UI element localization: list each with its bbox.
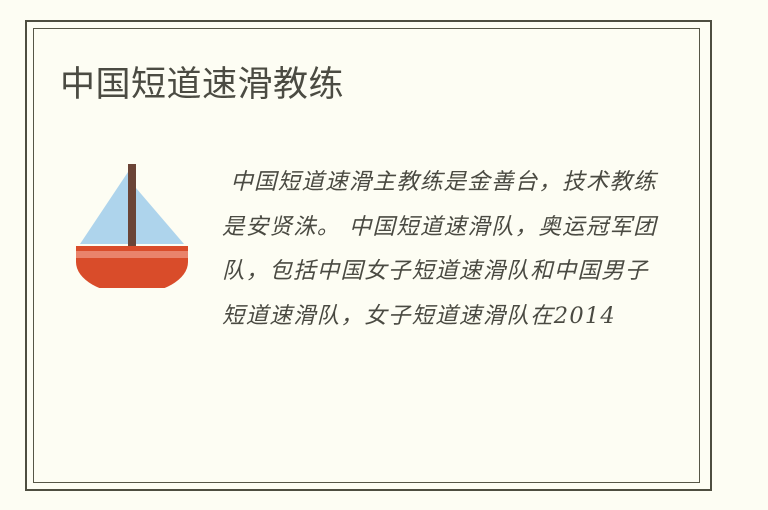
card-body-text: 中国短道速滑主教练是金善台，技术教练是安贤洙。 中国短道速滑队，奥运冠军团队，包… — [222, 160, 662, 338]
info-card-page: 中国短道速滑教练 中国短道速滑主教练是金善台，技术教练是安贤洙。 中国短道速滑队… — [0, 0, 768, 510]
sailboat-icon — [68, 158, 198, 288]
page-title: 中国短道速滑教练 — [60, 62, 344, 108]
